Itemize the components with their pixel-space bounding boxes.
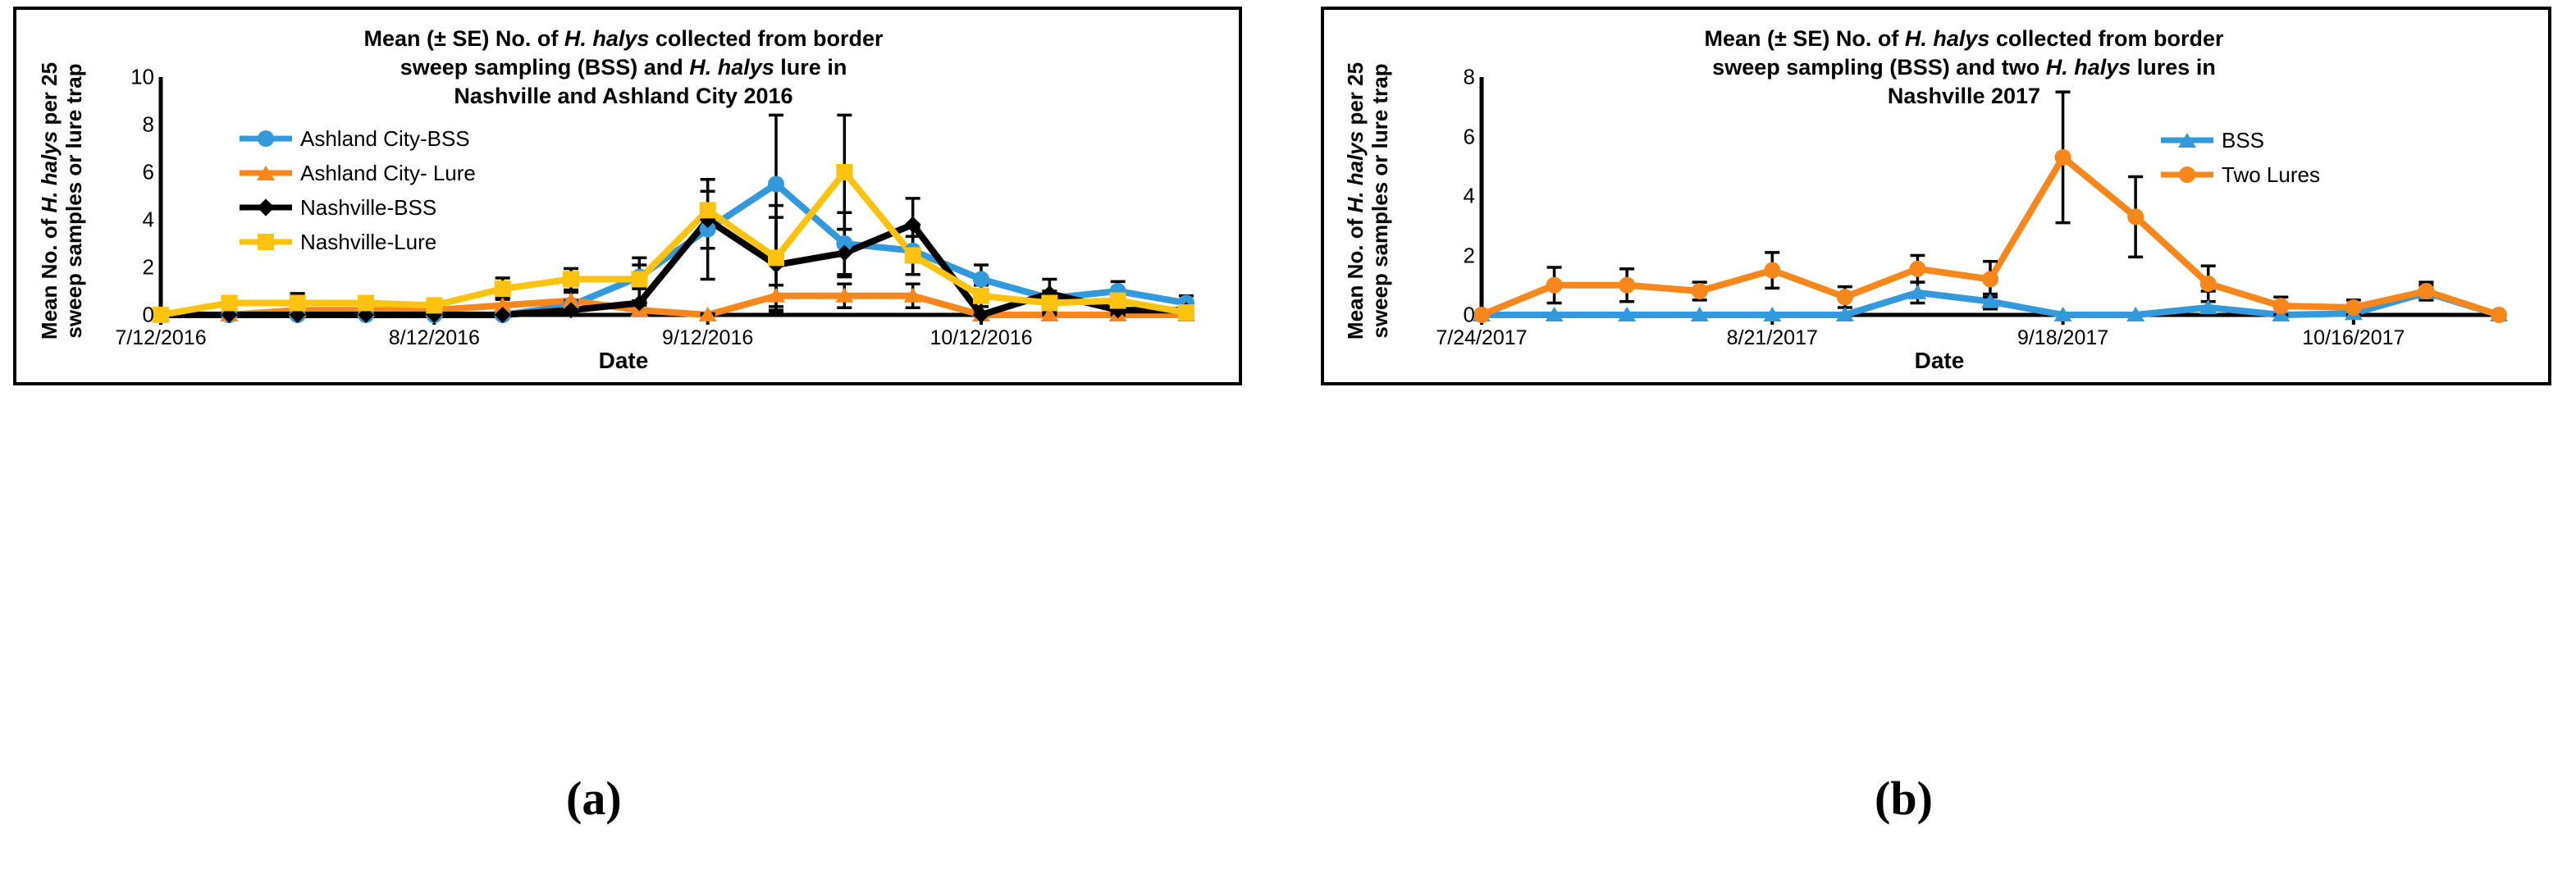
y-tick-label: 0 [1464,303,1475,328]
panel-b-legend: BSSTwo Lures [2161,123,2320,192]
panel-b-title-line-1: Mean (± SE) No. of H. halys collected fr… [1705,26,2224,51]
y-tick-label: 6 [1464,124,1475,149]
y-tick-label: 10 [130,65,154,90]
legend-swatch-triangle-icon [2161,131,2213,149]
y-tick-label: 0 [143,303,154,328]
x-tick-label: 9/18/2017 [2017,326,2108,350]
panel-a-title-line-2: sweep sampling (BSS) and H. halys lure i… [400,55,847,80]
y-tick-label: 6 [143,160,154,185]
x-tick-label: 10/12/2016 [929,326,1032,350]
y-tick-label: 8 [1464,65,1475,90]
legend-item[interactable]: Ashland City- Lure [240,156,476,190]
y-tick-label: 2 [1464,243,1475,268]
x-tick-label: 8/12/2016 [389,326,480,350]
x-tick-label: 9/12/2016 [662,326,753,350]
figure-root: Mean (± SE) No. of H. halys collected fr… [0,0,2576,884]
legend-label: BSS [2222,128,2264,153]
legend-label: Nashville-Lure [300,230,436,255]
panel-b-caption: (b) [1875,771,1933,826]
x-tick-label: 8/21/2017 [1727,326,1818,350]
panel-a-legend: Ashland City-BSSAshland City- LureNashvi… [240,121,476,259]
panel-b: Mean (± SE) No. of H. halys collected fr… [1321,7,2551,385]
legend-label: Nashville-BSS [300,195,436,221]
legend-item[interactable]: Nashville-BSS [240,190,476,225]
y-tick-label: 4 [1464,184,1475,209]
x-tick-label: 7/12/2016 [115,326,206,350]
panel-b-plot-area: 024687/24/20178/21/20179/18/201710/16/20… [1482,77,2499,315]
legend-swatch-square-icon [240,233,292,251]
legend-item[interactable]: Two Lures [2161,157,2320,192]
legend-label: Two Lures [2222,162,2320,188]
panel-b-title-line-2: sweep sampling (BSS) and two H. halys lu… [1712,55,2216,80]
y-tick-label: 4 [143,207,154,233]
panel-a-y-axis-label: Mean No. of H. halys per 25sweep samples… [38,25,87,377]
legend-swatch-circle-icon [2161,166,2213,184]
x-tick-label: 7/24/2017 [1436,326,1527,350]
legend-swatch-circle-icon [240,130,292,148]
panel-a-title-line-1: Mean (± SE) No. of H. halys collected fr… [364,26,884,51]
y-tick-label: 2 [143,255,154,280]
panel-b-y-axis-label: Mean No. of H. halys per 25sweep samples… [1344,25,1393,377]
legend-item[interactable]: Ashland City-BSS [240,121,476,156]
legend-swatch-diamond-icon [240,198,292,216]
legend-swatch-triangle-icon [240,164,292,182]
legend-label: Ashland City-BSS [300,126,470,152]
y-tick-label: 8 [143,112,154,138]
legend-label: Ashland City- Lure [300,161,476,186]
legend-item[interactable]: Nashville-Lure [240,225,476,259]
panel-a-caption: (a) [566,771,622,826]
legend-item[interactable]: BSS [2161,123,2320,157]
x-tick-label: 10/16/2017 [2302,326,2405,350]
panel-a: Mean (± SE) No. of H. halys collected fr… [13,7,1242,385]
